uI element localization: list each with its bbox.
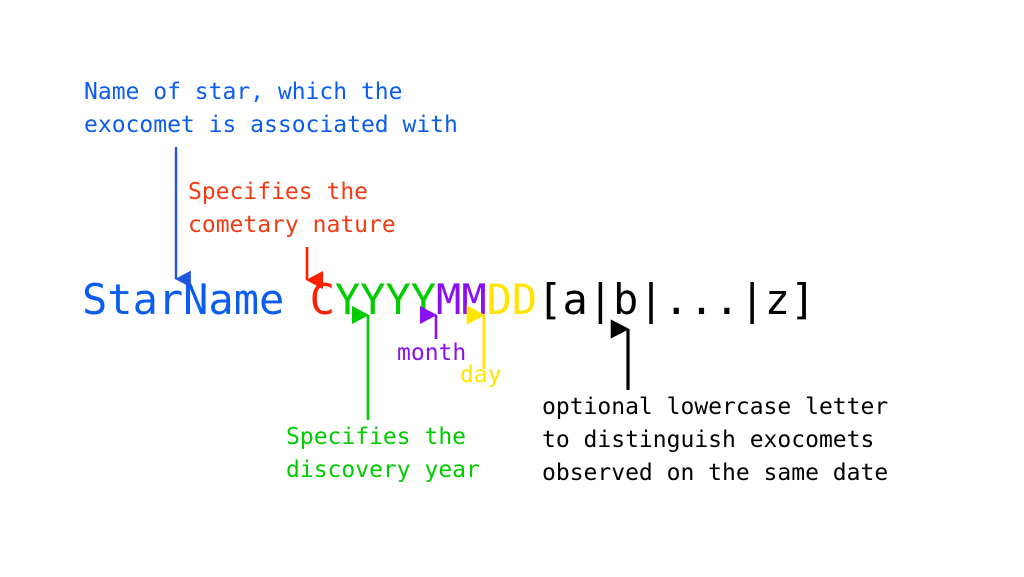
- day-label: day: [460, 359, 502, 392]
- cometary-annotation: Specifies the cometary nature: [188, 176, 396, 242]
- formula-day: DD: [487, 275, 538, 324]
- cometary-annotation-line2: cometary nature: [188, 212, 396, 238]
- formula-optional-letter: [a|b|...|z]: [537, 275, 815, 324]
- star-name-annotation: Name of star, which the exocomet is asso…: [84, 76, 458, 142]
- naming-convention-formula: StarName CYYYYMMDD[a|b|...|z]: [82, 276, 815, 324]
- discovery-year-annotation-line2: discovery year: [286, 457, 480, 483]
- diagram-canvas: Name of star, which the exocomet is asso…: [0, 0, 1024, 577]
- optional-letter-annotation: optional lowercase letter to distinguish…: [542, 391, 888, 490]
- formula-year: YYYY: [335, 275, 436, 324]
- discovery-year-annotation: Specifies the discovery year: [286, 421, 480, 487]
- optional-letter-annotation-line1: optional lowercase letter: [542, 394, 888, 420]
- discovery-year-annotation-line1: Specifies the: [286, 424, 466, 450]
- star-name-annotation-line1: Name of star, which the: [84, 79, 403, 105]
- formula-separator: [284, 275, 309, 324]
- formula-month: MM: [436, 275, 487, 324]
- star-name-annotation-line2: exocomet is associated with: [84, 112, 458, 138]
- cometary-annotation-line1: Specifies the: [188, 179, 368, 205]
- month-label: month: [397, 337, 466, 370]
- formula-comet-flag: C: [310, 275, 335, 324]
- formula-star-name: StarName: [82, 275, 284, 324]
- optional-letter-annotation-line3: observed on the same date: [542, 460, 888, 486]
- optional-letter-annotation-line2: to distinguish exocomets: [542, 427, 874, 453]
